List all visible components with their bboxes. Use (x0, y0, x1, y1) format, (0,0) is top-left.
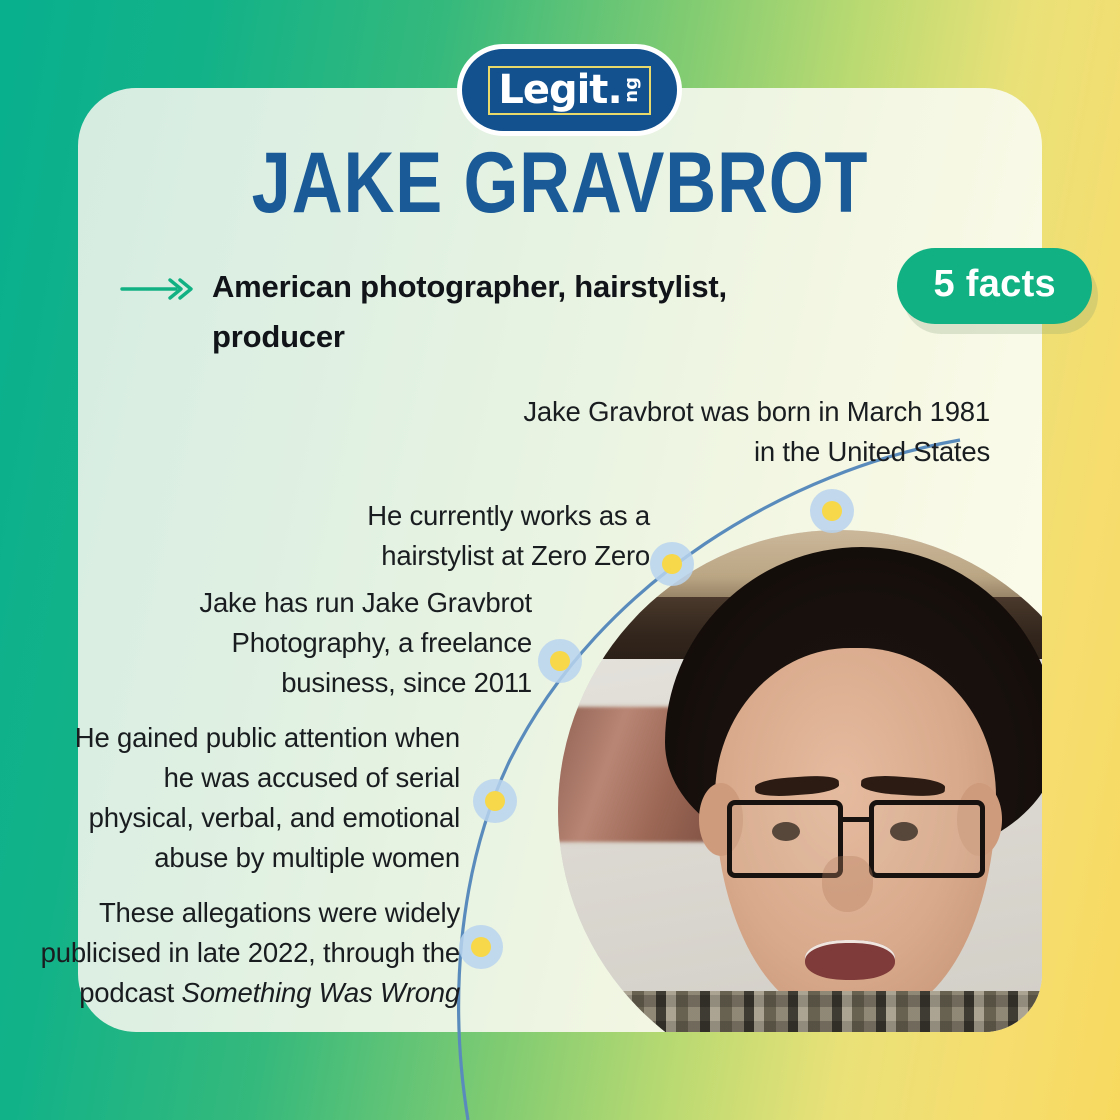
fact-item-4: He gained public attention when he was a… (60, 718, 460, 878)
subtitle-text: American photographer, hairstylist, prod… (212, 262, 760, 362)
legit-ng-logo[interactable]: Legit . ng (457, 44, 682, 136)
fact-item-1: Jake Gravbrot was born in March 1981 in … (510, 392, 990, 472)
page-title: JAKE GRAVBROT (101, 140, 1019, 226)
fact-item-3: Jake has run Jake Gravbrot Photography, … (160, 583, 532, 703)
logo-domain-suffix: ng (623, 77, 641, 103)
fact-item-5: These allegations were widely publicised… (40, 893, 460, 1013)
logo-inner-frame: Legit . ng (488, 66, 650, 115)
timeline-dot-inner-1 (822, 501, 842, 521)
fact-item-2: He currently works as a hairstylist at Z… (300, 496, 650, 576)
timeline-dot-inner-3 (550, 651, 570, 671)
timeline-dot-inner-2 (662, 554, 682, 574)
logo-wordmark: Legit (498, 70, 607, 110)
timeline-dot-inner-5 (471, 937, 491, 957)
timeline-dot-inner-4 (485, 791, 505, 811)
logo-dot: . (607, 70, 621, 110)
arrow-right-icon (120, 276, 200, 302)
subtitle-row: American photographer, hairstylist, prod… (120, 262, 760, 362)
facts-count-badge: 5 facts (897, 248, 1092, 324)
fact-5-podcast-title: Something Was Wrong (182, 977, 460, 1008)
